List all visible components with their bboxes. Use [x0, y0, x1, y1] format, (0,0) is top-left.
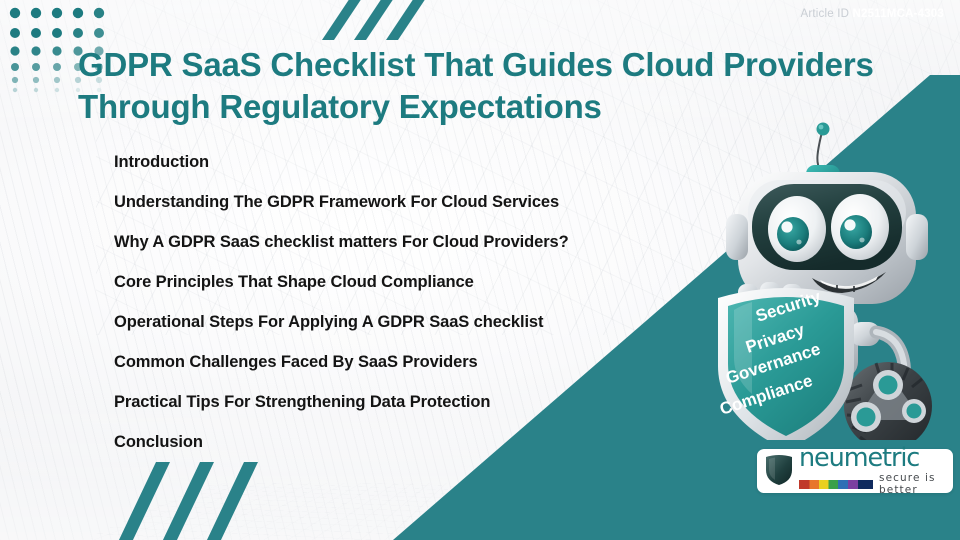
slide-canvas: Article ID N2511MCA-4303 GDPR SaaS Check… — [0, 0, 960, 540]
table-of-contents: Introduction Understanding The GDPR Fram… — [114, 142, 714, 462]
robot-eye-left — [768, 196, 826, 262]
robot-mascot-illustration: Security Privacy Governance Compliance — [700, 110, 960, 440]
logo-wordmark: neumetric — [799, 446, 946, 471]
robot-ear-left — [726, 214, 748, 260]
robot-shield: Security Privacy Governance Compliance — [717, 287, 854, 440]
robot-wheel — [844, 362, 932, 440]
toc-item[interactable]: Core Principles That Shape Cloud Complia… — [114, 262, 714, 302]
robot-antenna-tip — [817, 123, 830, 136]
toc-item[interactable]: Conclusion — [114, 422, 714, 462]
robot-ear-right — [906, 214, 928, 260]
diagonal-stripes-top — [322, 0, 430, 45]
toc-item[interactable]: Practical Tips For Strengthening Data Pr… — [114, 382, 714, 422]
toc-item[interactable]: Common Challenges Faced By SaaS Provider… — [114, 342, 714, 382]
logo-rainbow-bar — [799, 480, 873, 489]
article-id-code: N2511MCA-4303 — [853, 8, 944, 20]
logo-tagline: secure is better — [879, 472, 946, 496]
logo-shield-icon — [764, 452, 794, 491]
toc-item[interactable]: Introduction — [114, 142, 714, 182]
toc-item[interactable]: Understanding The GDPR Framework For Clo… — [114, 182, 714, 222]
toc-item[interactable]: Operational Steps For Applying A GDPR Sa… — [114, 302, 714, 342]
article-id-label: Article ID — [800, 8, 849, 20]
robot-eye-right — [831, 194, 889, 260]
toc-item[interactable]: Why A GDPR SaaS checklist matters For Cl… — [114, 222, 714, 262]
neumetric-logo[interactable]: neumetric secure is better — [757, 449, 953, 493]
article-id: Article ID N2511MCA-4303 — [800, 8, 944, 20]
diagonal-stripes-bottom — [118, 462, 263, 540]
